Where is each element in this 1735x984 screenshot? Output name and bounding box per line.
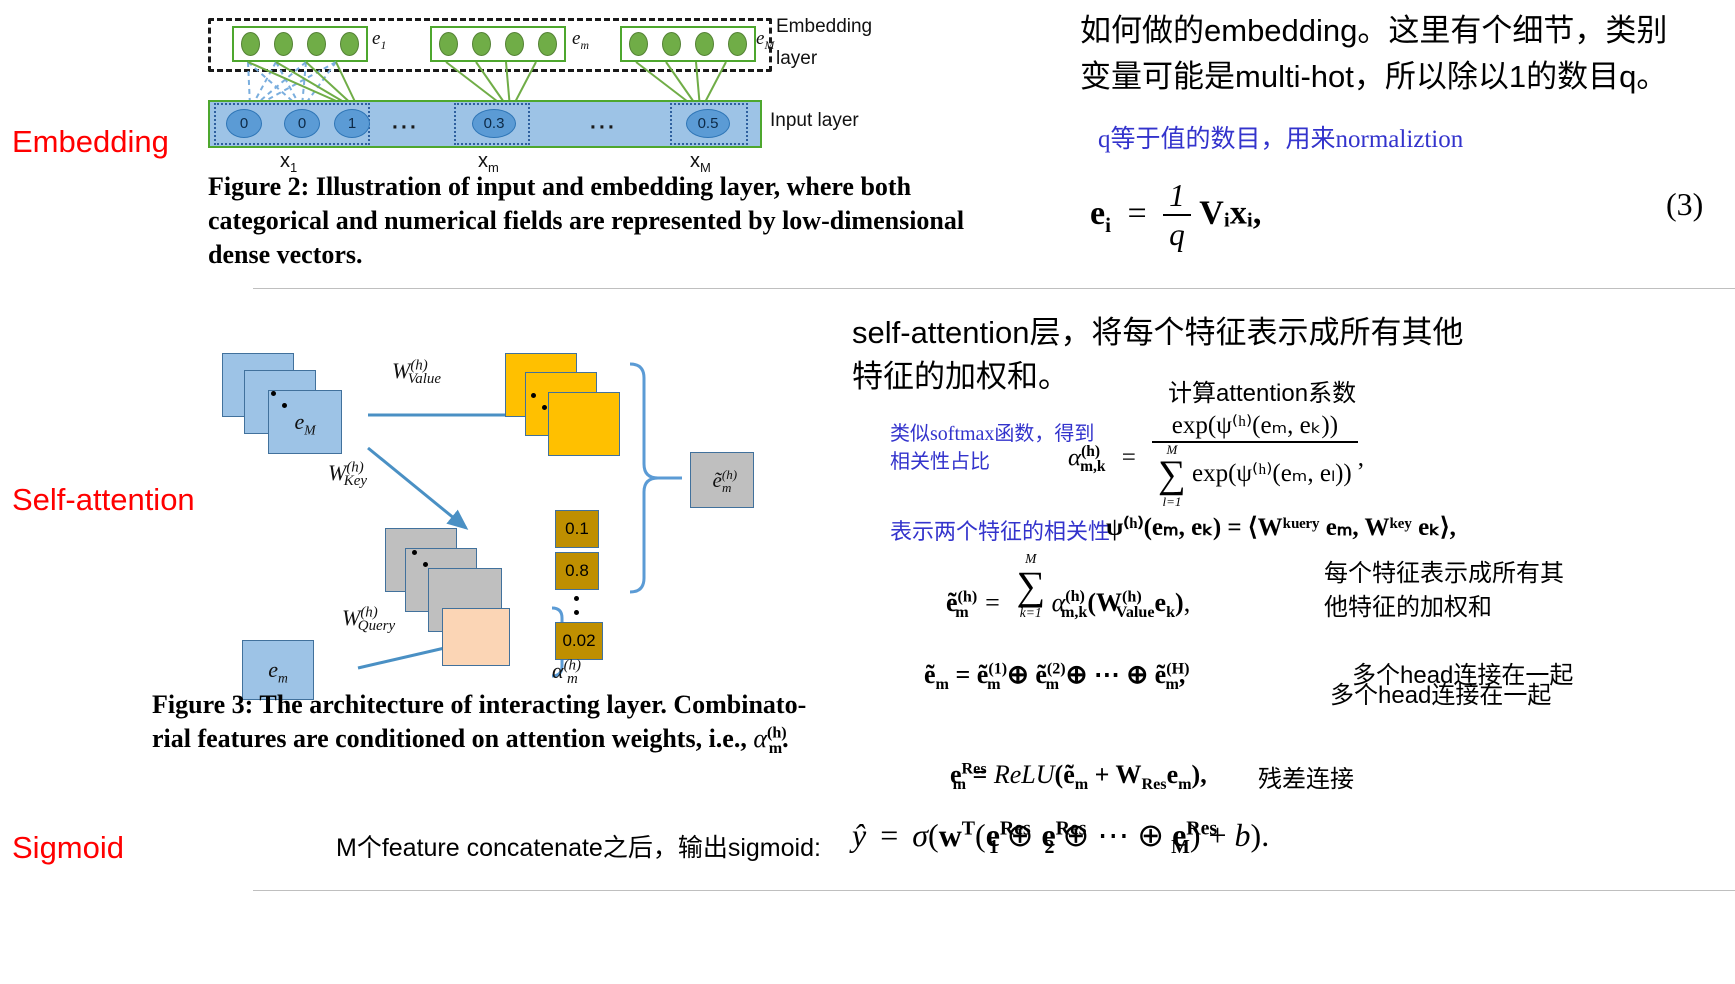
attention-weight-cell: 0.8	[555, 552, 599, 590]
input-node-0p5: 0.5	[686, 109, 730, 138]
figure3-caption-line2-wrap: rial features are conditioned on attenti…	[152, 722, 852, 756]
eq3-numerator: 1	[1163, 178, 1191, 216]
figure2-diagram: e1 em eM	[200, 6, 990, 166]
selfattn-note-line2: 特征的加权和。	[852, 356, 1069, 398]
section-label-self-attention: Self-attention	[12, 482, 195, 518]
alpha-sub: m	[567, 671, 578, 687]
label-em: em	[268, 657, 288, 683]
w-key-label: W(h)Key	[328, 460, 367, 486]
input-node-0-b: 0	[284, 109, 320, 138]
attention-weight-value: 0.02	[556, 623, 602, 659]
figure2-caption: Figure 2: Illustration of input and embe…	[208, 170, 968, 271]
label-eM-base: e	[294, 409, 304, 434]
label-em-base: e	[268, 657, 278, 682]
embedding-note-line2: 变量可能是multi-hot，所以除以1的数目q。	[1080, 56, 1667, 98]
softmax-note-line2: 相关性占比	[890, 450, 990, 475]
stack-dot	[423, 562, 428, 567]
attention-weight-value: 0.8	[556, 553, 598, 589]
value-card-3	[548, 392, 620, 456]
figure3-caption-alpha: α	[753, 724, 767, 753]
w-key-sub: Key	[344, 473, 367, 489]
section-label-embedding: Embedding	[12, 124, 169, 160]
input-node-0p3: 0.3	[472, 109, 516, 138]
output-card: ẽ(h)m	[690, 452, 754, 508]
figure3-caption-line2: rial features are conditioned on attenti…	[152, 724, 753, 753]
section-label-sigmoid: Sigmoid	[12, 830, 124, 866]
eq3-equals: =	[1127, 195, 1146, 232]
figure3-caption: Figure 3: The architecture of interactin…	[152, 688, 852, 756]
eq3-lhs-sub: i	[1105, 212, 1111, 236]
alpha-eq-lhs-sub: m,k	[1080, 458, 1105, 475]
attention-weight-value: 0.1	[556, 511, 598, 547]
alpha-label: α(h)m	[552, 658, 578, 684]
figure3-diagram: eM em 0.1 0.8 0.02 α(h)m ẽ(h)m W(h)Value…	[200, 320, 830, 710]
w-value-sub: Value	[408, 371, 441, 387]
w-query-sub: Query	[358, 618, 395, 634]
ellipsis-2: ···	[590, 116, 617, 140]
attention-weight-cell: 0.1	[555, 510, 599, 548]
divider-bottom	[253, 890, 1735, 891]
w-value-label: W(h)Value	[392, 358, 441, 384]
softmax-note-line1: 类似softmax函数，得到	[890, 422, 1094, 447]
stack-dot	[271, 391, 276, 396]
alpha-eq-numerator: exp(ψ⁽ʰ⁾(eₘ, eₖ))	[1152, 412, 1358, 443]
equation-concat-heads: ẽm = ẽ(1)m ⊕ ẽ(2)m ⊕ ⋯ ⊕ ẽ(H)m,	[924, 660, 1185, 690]
equation-residual: eResm = ReLU(ẽm + WResem),	[950, 760, 1207, 790]
label-em-sub: m	[278, 670, 288, 685]
equation-sigmoid-output: ŷ = σ(wT(eRes1 ⊕ eRes2 ⊕ ⋯ ⊕ eResM) + b)…	[852, 816, 1269, 854]
embedding-layer-caption-line1: Embedding	[776, 16, 872, 38]
embedding-layer-caption-line2: layer	[776, 48, 817, 70]
field-label-base: x	[690, 150, 700, 172]
alpha-eq-trail: ,	[1358, 444, 1364, 471]
figure3-caption-end: .	[782, 724, 789, 753]
field-label-base: x	[280, 150, 290, 172]
eq3-denominator: q	[1163, 216, 1191, 254]
psi-note: 表示两个特征的相关性	[890, 518, 1110, 546]
res-eq-trail: ,	[1200, 760, 1207, 789]
query-card	[442, 608, 510, 666]
input-layer-caption: Input layer	[770, 110, 859, 132]
sum-bottom: l=1	[1158, 495, 1186, 508]
label-eM-sub: M	[304, 422, 315, 437]
divider-top	[253, 288, 1735, 289]
ellipsis-1: ···	[392, 116, 419, 140]
label-eM: eM	[294, 409, 315, 435]
figure3-caption-line1: Figure 3: The architecture of interactin…	[152, 688, 852, 722]
weighted-sum-note-line1: 每个特征表示成所有其	[1324, 558, 1564, 589]
weights-ellipsis-dot	[574, 610, 579, 615]
concat-eq-trail: ,	[1179, 660, 1186, 689]
weights-ellipsis-dot	[574, 596, 579, 601]
input-node-0-a: 0	[226, 109, 262, 138]
equation-attention-alpha: α(h)m,k = exp(ψ⁽ʰ⁾(eₘ, eₖ)) M∑l=1 exp(ψ⁽…	[1068, 412, 1364, 508]
q-normalization-note: q等于值的数目，用来normaliztion	[1098, 124, 1463, 155]
field-label-base: x	[478, 150, 488, 172]
input-node-1: 1	[334, 109, 370, 138]
output-base: ẽ	[713, 468, 722, 492]
stack-dot	[282, 403, 287, 408]
eq3-rhs: Vᵢxᵢ,	[1199, 195, 1261, 232]
output-sub: m	[722, 480, 731, 495]
residual-note: 残差连接	[1258, 764, 1354, 795]
sigmoid-note: M个feature concatenate之后，输出sigmoid:	[336, 832, 821, 865]
equation-3: ei = 1 q Vᵢxᵢ,	[1090, 178, 1261, 254]
multihead-note-b: 多个head连接在一起	[1330, 680, 1551, 711]
equation-3-number: (3)	[1666, 186, 1703, 223]
selfattn-note-line1: self-attention层，将每个特征表示成所有其他	[852, 312, 1464, 354]
alpha-eq-den-rest: exp(ψ⁽ʰ⁾(eₘ, eₗ))	[1192, 460, 1352, 487]
stack-dot	[412, 550, 417, 555]
etilde-eq-trail: ,	[1184, 588, 1191, 617]
sum-symbol: ∑	[1158, 453, 1186, 496]
stack-dot	[542, 405, 547, 410]
alpha-base: α	[552, 658, 564, 683]
w-query-label: W(h)Query	[342, 605, 395, 631]
weighted-sum-note-line2: 他特征的加权和	[1324, 592, 1492, 623]
attention-coefficient-note: 计算attention系数	[1168, 378, 1356, 409]
eq3-lhs-base: e	[1090, 195, 1105, 232]
embedding-note-line1: 如何做的embedding。这里有个细节，类别	[1080, 10, 1667, 52]
attention-weight-cell: 0.02	[555, 622, 603, 660]
sigmoid-eq-trail: .	[1261, 817, 1269, 853]
equation-psi: ψ⁽ʰ⁾(eₘ, eₖ) = ⟨Wᵏᵘᵉʳʸ eₘ, Wᵏᵉʸ eₖ⟩,	[1106, 512, 1456, 542]
embedding-card-eM: eM	[268, 390, 342, 454]
alpha-eq-denominator: M∑l=1 exp(ψ⁽ʰ⁾(eₘ, eₗ))	[1152, 443, 1358, 508]
label-etilde-m-h: ẽ(h)m	[713, 468, 732, 493]
figure3-caption-alpha-sub: m	[769, 740, 782, 757]
stack-dot	[531, 393, 536, 398]
equation-etilde-sum: ẽ(h)m = M∑k=1 α(h)m,k(W(h)Valueek),	[946, 552, 1190, 619]
